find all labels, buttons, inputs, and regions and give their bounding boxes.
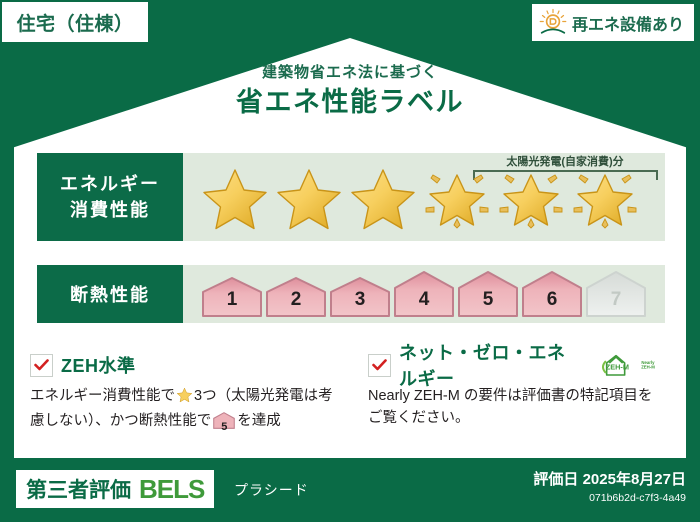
footer: 第三者評価 BELS プラシード 評価日 2025年8月27日 071b6b2d… (0, 458, 700, 522)
insulation-badge-inline-number: 5 (213, 419, 235, 436)
building-type-chip: 住宅（住棟） (2, 2, 148, 42)
insulation-level-7: 7 (585, 270, 647, 318)
check-icon-zeh (30, 354, 53, 377)
insulation-level-1: 1 (201, 276, 263, 318)
insulation-level-scale: 1 2 3 4 (183, 265, 665, 323)
criterion-zeh-text: エネルギー消費性能で3つ（太陽光発電は考慮しない）、かつ断熱性能で5を達成 (30, 385, 336, 437)
building-type-label: 住宅（住棟） (16, 9, 133, 36)
insulation-label: 断熱性能 (70, 281, 150, 307)
check-icon-net-zero (368, 354, 391, 377)
sun-renewable-icon (538, 8, 568, 38)
energy-performance-value: 太陽光発電(自家消費)分 (183, 153, 665, 241)
svg-text:ZEH-M: ZEH-M (641, 365, 655, 370)
insulation-performance-value: 1 2 3 4 (183, 265, 665, 323)
criterion-zeh-text-part3: を達成 (237, 413, 281, 429)
evaluation-info: 評価日 2025年8月27日 071b6b2d-c7f3-4a49 (533, 468, 686, 504)
criteria-section: ZEH水準 エネルギー消費性能で3つ（太陽光発電は考慮しない）、かつ断熱性能で5… (30, 352, 670, 437)
bels-certification-chip: 第三者評価 BELS (16, 470, 214, 508)
star-icon-solar-6 (569, 161, 641, 233)
insulation-level-6: 6 (521, 270, 583, 318)
energy-performance-key: エネルギー 消費性能 (37, 153, 183, 241)
insulation-badge-inline: 5 (213, 412, 235, 436)
insulation-level-7-number: 7 (585, 289, 647, 311)
insulation-performance-row: 断熱性能 (37, 265, 665, 323)
energy-star-rating (183, 153, 665, 241)
criterion-net-zero-header: ネット・ゼロ・エネルギー ZEH-M Nearly ZEH-M (368, 352, 656, 378)
zeh-m-house-icon: ZEH-M (596, 352, 640, 378)
energy-label-line2: 消費性能 (70, 197, 150, 223)
criterion-net-zero-title: ネット・ゼロ・エネルギー (399, 339, 582, 391)
title-subtitle: 建築物省エネ法に基づく (0, 64, 700, 82)
evaluation-id: 071b6b2d-c7f3-4a49 (533, 492, 686, 504)
criterion-zeh-header: ZEH水準 (30, 352, 336, 378)
insulation-level-5-number: 5 (457, 289, 519, 311)
insulation-level-2: 2 (265, 276, 327, 318)
renewable-equipment-label: 再エネ設備あり (572, 11, 684, 35)
criterion-zeh-text-part1: エネルギー消費性能で (30, 388, 175, 404)
bels-jp-label: 第三者評価 (26, 474, 131, 504)
title-main: 省エネ性能ラベル (0, 86, 700, 118)
energy-performance-label: 住宅（住棟） 再エネ設備あり 建築物省エネ (0, 0, 700, 522)
brand-name: プラシード (234, 480, 309, 500)
criterion-net-zero-text: Nearly ZEH-M の要件は評価書の特記項目をご覧ください。 (368, 385, 656, 430)
insulation-level-5: 5 (457, 270, 519, 318)
zeh-m-badge: ZEH-M Nearly ZEH-M (596, 352, 656, 378)
insulation-level-6-number: 6 (521, 289, 583, 311)
insulation-performance-key: 断熱性能 (37, 265, 183, 323)
star-icon-3 (347, 161, 419, 233)
criterion-zeh: ZEH水準 エネルギー消費性能で3つ（太陽光発電は考慮しない）、かつ断熱性能で5… (30, 352, 350, 437)
insulation-level-3-number: 3 (329, 289, 391, 311)
energy-performance-row: エネルギー 消費性能 太陽光発電(自家消費)分 (37, 153, 665, 241)
bels-en-label: BELS (139, 474, 204, 505)
evaluation-date: 評価日 2025年8月27日 (533, 468, 686, 489)
energy-label-line1: エネルギー (60, 171, 160, 197)
svg-text:ZEH-M: ZEH-M (606, 363, 629, 372)
page-title: 建築物省エネ法に基づく 省エネ性能ラベル (0, 64, 700, 118)
star-icon-solar-4 (421, 161, 493, 233)
star-icon-solar-5 (495, 161, 567, 233)
insulation-level-4: 4 (393, 270, 455, 318)
svg-text:Nearly: Nearly (641, 360, 655, 365)
insulation-level-2-number: 2 (265, 289, 327, 311)
insulation-level-4-number: 4 (393, 289, 455, 311)
criterion-zeh-title: ZEH水準 (61, 352, 136, 378)
criterion-net-zero: ネット・ゼロ・エネルギー ZEH-M Nearly ZEH-M Nearly Z… (350, 352, 670, 437)
insulation-level-1-number: 1 (201, 289, 263, 311)
star-icon-inline (176, 386, 193, 410)
criteria-divider (349, 352, 350, 444)
insulation-level-3: 3 (329, 276, 391, 318)
star-icon-2 (273, 161, 345, 233)
renewable-equipment-badge: 再エネ設備あり (532, 4, 694, 41)
star-icon-1 (199, 161, 271, 233)
zeh-m-nearly-sublabel: Nearly ZEH-M (640, 357, 656, 373)
